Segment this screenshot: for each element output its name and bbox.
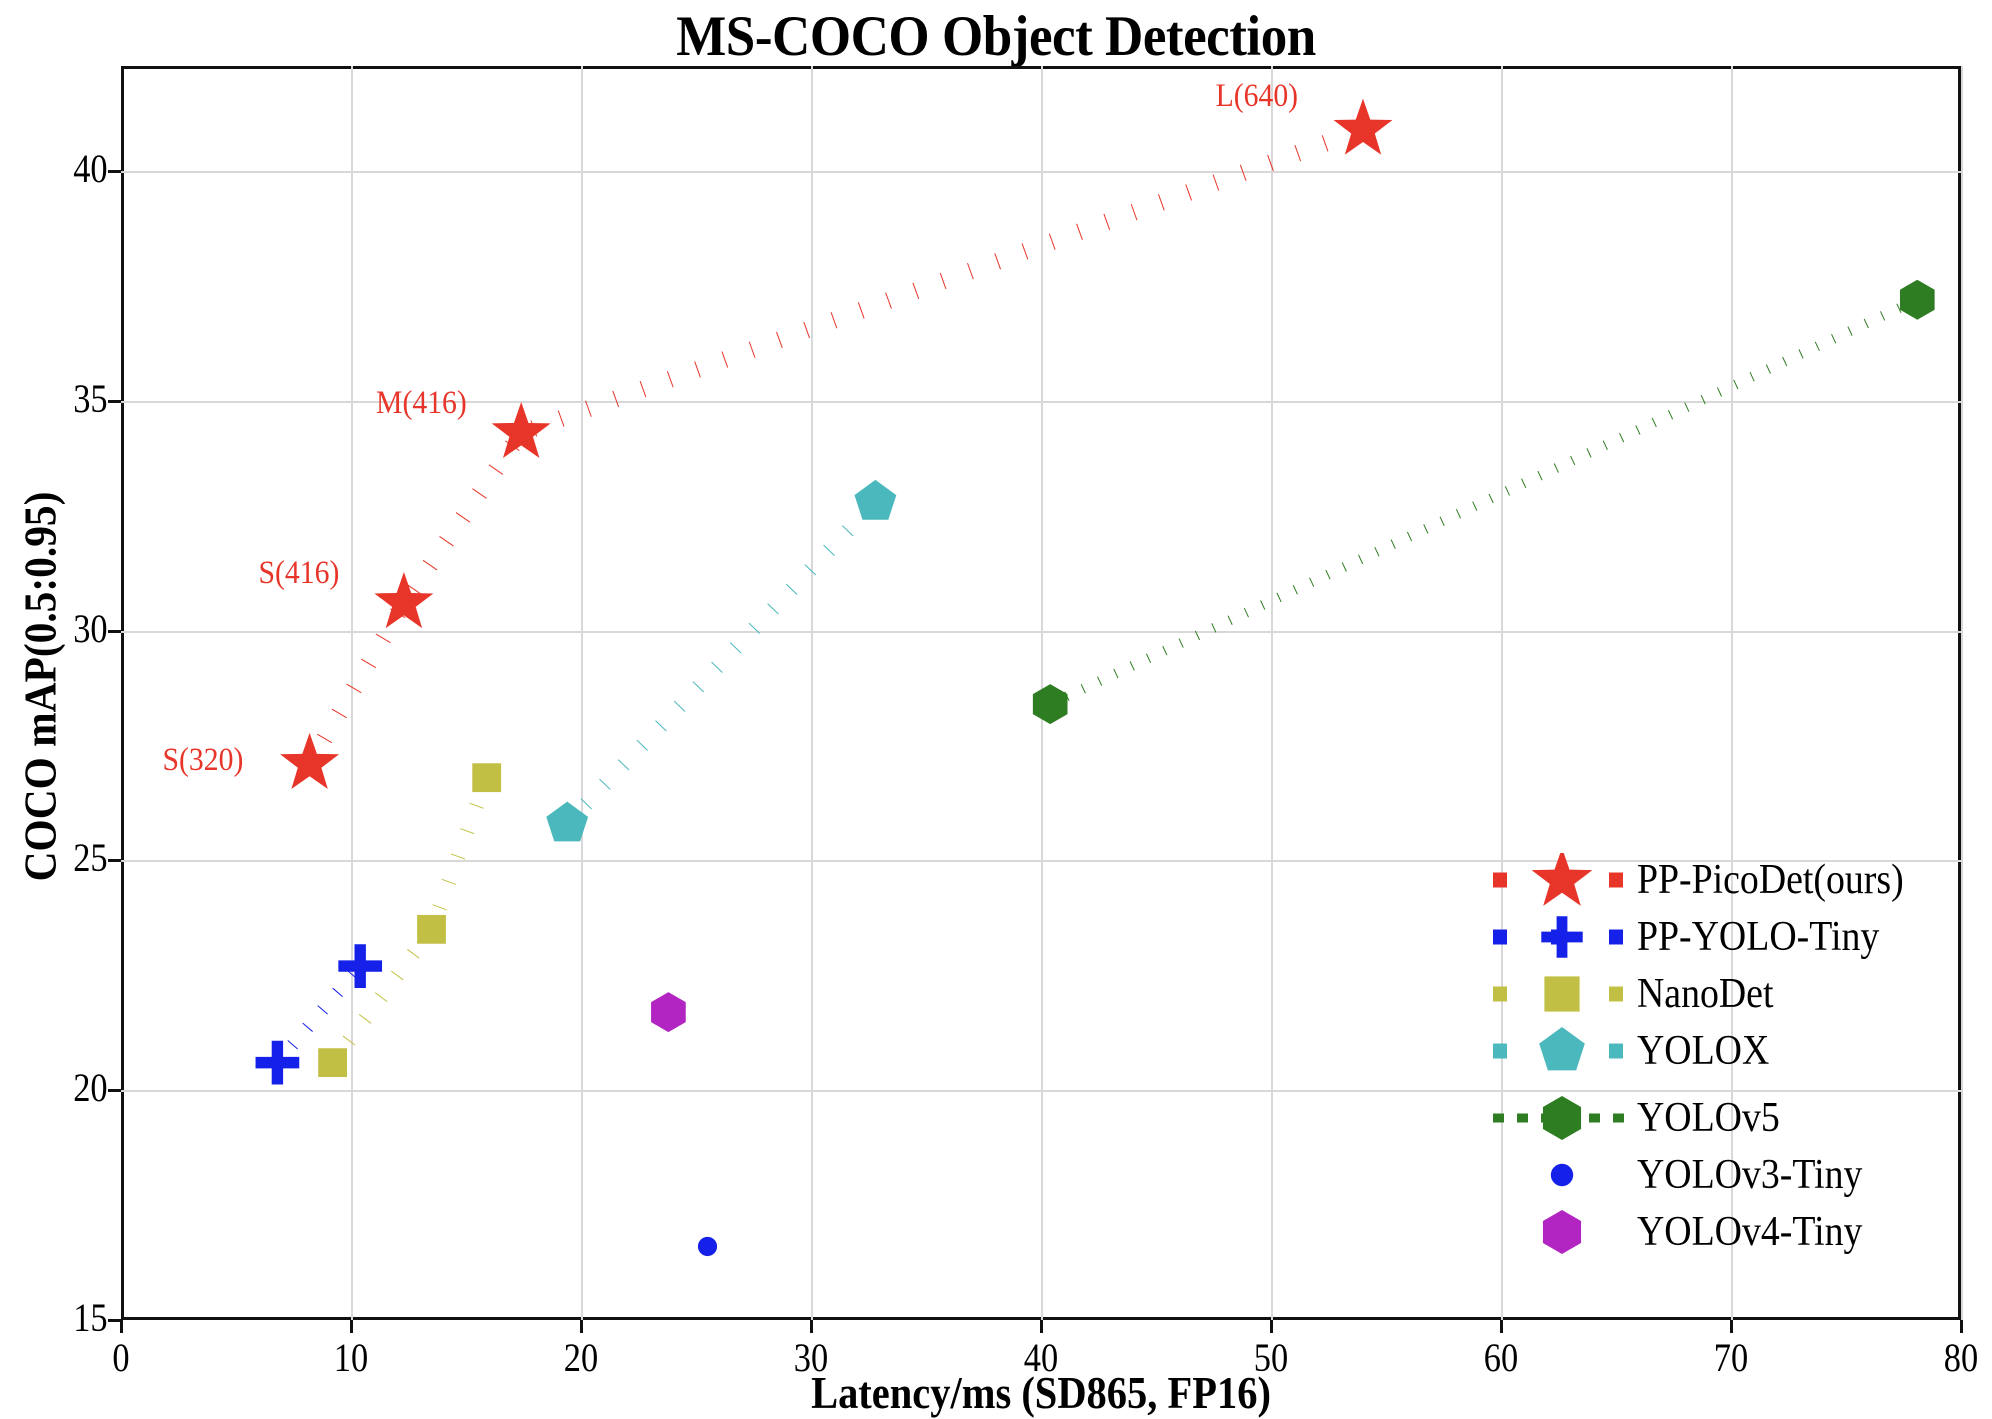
y-tick <box>108 1089 121 1092</box>
legend-marker <box>1543 1096 1581 1140</box>
x-tick <box>1270 1320 1273 1333</box>
gridline-vertical <box>1961 66 1963 1320</box>
y-axis-title: COCO mAP(0.5:0.95) <box>14 147 67 1227</box>
legend-marker <box>1541 916 1582 957</box>
legend-item-yolov4-tiny[interactable]: YOLOv4-Tiny <box>1487 1205 1887 1259</box>
x-tick <box>810 1320 813 1333</box>
x-tick <box>1040 1320 1043 1333</box>
legend-item-yolov5[interactable]: YOLOv5 <box>1487 1091 1796 1145</box>
pentagon-icon <box>1487 1024 1637 1078</box>
legend-item-yolov3-tiny[interactable]: YOLOv3-Tiny <box>1487 1148 1887 1202</box>
legend-marker <box>1539 1027 1585 1070</box>
legend-label: YOLOv3-Tiny <box>1637 1151 1862 1199</box>
x-axis-title: Latency/ms (SD865, FP16) <box>231 1366 1850 1419</box>
plus-icon <box>1487 910 1637 964</box>
legend-label: YOLOX <box>1637 1027 1769 1075</box>
gridline-vertical <box>351 66 353 1320</box>
legend-item-yolox[interactable]: YOLOX <box>1487 1024 1784 1078</box>
legend-marker <box>1543 1210 1581 1254</box>
legend-label: PP-PicoDet(ours) <box>1637 856 1904 904</box>
legend-item-nanodet[interactable]: NanoDet <box>1487 967 1789 1021</box>
x-tick <box>350 1320 353 1333</box>
annotation-s-416: S(416) <box>258 555 339 592</box>
x-tick <box>1500 1320 1503 1333</box>
legend-marker <box>1551 1164 1573 1186</box>
gridline-horizontal <box>121 171 1961 173</box>
figure: MS-COCO Object Detection 010203040506070… <box>0 0 1992 1412</box>
legend-marker <box>1544 976 1579 1011</box>
gridline-vertical <box>581 66 583 1320</box>
hexagon-icon <box>1487 1205 1637 1259</box>
hexagon-icon <box>1487 1091 1637 1145</box>
legend-item-pp-picodet-ours[interactable]: PP-PicoDet(ours) <box>1487 853 1933 907</box>
legend-label: YOLOv5 <box>1637 1094 1780 1142</box>
star-icon <box>1487 853 1637 907</box>
y-tick <box>108 1319 121 1322</box>
x-tick <box>1730 1320 1733 1333</box>
y-tick <box>108 859 121 862</box>
legend-label: NanoDet <box>1637 970 1773 1018</box>
gridline-vertical <box>1041 66 1043 1320</box>
chart-title: MS-COCO Object Detection <box>70 4 1923 69</box>
y-tick <box>108 400 121 403</box>
x-tick <box>580 1320 583 1333</box>
annotation-s-320: S(320) <box>162 742 243 779</box>
y-tick <box>108 630 121 633</box>
annotation-l-640: L(640) <box>1216 78 1298 115</box>
x-tick-label: 0 <box>82 1334 159 1381</box>
y-tick-label: 15 <box>4 1294 107 1341</box>
legend-label: YOLOv4-Tiny <box>1637 1208 1862 1256</box>
x-tick <box>1960 1320 1963 1333</box>
gridline-vertical <box>1271 66 1273 1320</box>
legend-marker <box>1532 853 1593 906</box>
legend-item-pp-yolo-tiny[interactable]: PP-YOLO-Tiny <box>1487 910 1906 964</box>
circle-icon <box>1487 1148 1637 1202</box>
legend-label: PP-YOLO-Tiny <box>1637 913 1879 961</box>
square-icon <box>1487 967 1637 1021</box>
gridline-horizontal <box>121 631 1961 633</box>
y-tick <box>108 170 121 173</box>
x-tick-label: 80 <box>1922 1334 1992 1381</box>
annotation-m-416: M(416) <box>376 385 467 422</box>
gridline-vertical <box>811 66 813 1320</box>
legend[interactable]: PP-PicoDet(ours)PP-YOLO-TinyNanoDetYOLOX… <box>1487 853 1947 1253</box>
